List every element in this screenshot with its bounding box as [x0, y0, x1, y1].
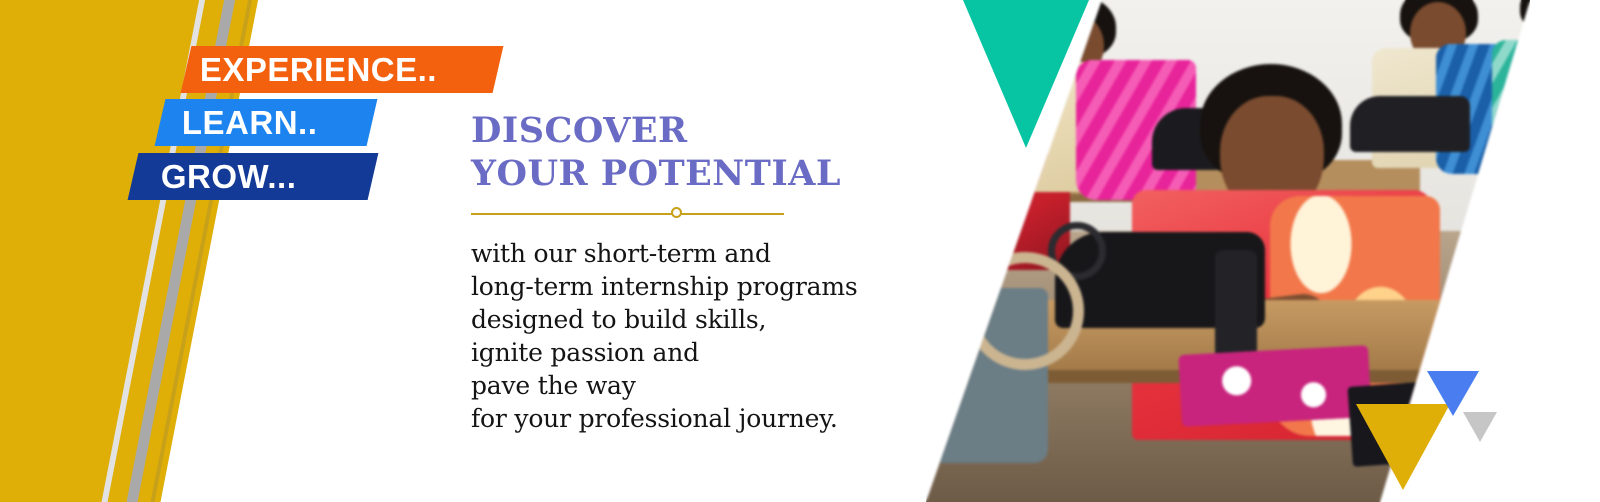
body-paragraph: with our short-term and long-term intern… — [471, 237, 891, 435]
divider-line — [471, 213, 784, 215]
tag-learn-label: LEARN.. — [182, 104, 318, 142]
tag-experience: EXPERIENCE.. — [181, 46, 504, 93]
triangle-gold-icon — [1356, 404, 1450, 490]
photo-striped-cloth — [910, 140, 970, 280]
headline-line-1: DISCOVER — [471, 110, 891, 153]
triangle-blue-icon — [1427, 371, 1479, 416]
tag-learn: LEARN.. — [155, 99, 378, 146]
headline-line-2: YOUR POTENTIAL — [471, 153, 891, 196]
headline-divider — [471, 207, 784, 221]
triangle-teal-icon — [963, 0, 1089, 148]
body-line-2: long-term internship programs — [471, 270, 891, 303]
page-title: DISCOVER YOUR POTENTIAL — [471, 110, 891, 195]
body-line-3: designed to build skills, — [471, 303, 891, 336]
body-line-4: ignite passion and — [471, 336, 891, 369]
body-line-5: pave the way — [471, 369, 891, 402]
promotional-banner: EXPERIENCE.. LEARN.. GROW... DISCOVER YO… — [0, 0, 1600, 502]
photo-torso — [1492, 40, 1600, 190]
tag-experience-label: EXPERIENCE.. — [200, 51, 437, 89]
headline-block: DISCOVER YOUR POTENTIAL with our short-t… — [471, 110, 891, 435]
divider-circle-icon — [671, 207, 682, 218]
body-line-1: with our short-term and — [471, 237, 891, 270]
photo-sewing-machine-needle-arm — [1215, 250, 1257, 360]
tag-grow: GROW... — [128, 153, 379, 200]
tag-grow-label: GROW... — [161, 158, 297, 196]
photo-head — [1528, 0, 1580, 54]
photo-pink-fabric — [1178, 345, 1372, 427]
triangle-gray-icon — [1463, 412, 1497, 442]
photo-bag-handle — [966, 252, 1084, 370]
body-line-6: for your professional journey. — [471, 402, 891, 435]
photo-hair — [1520, 0, 1592, 34]
photo-sewing-machine-back-2 — [1350, 96, 1470, 152]
